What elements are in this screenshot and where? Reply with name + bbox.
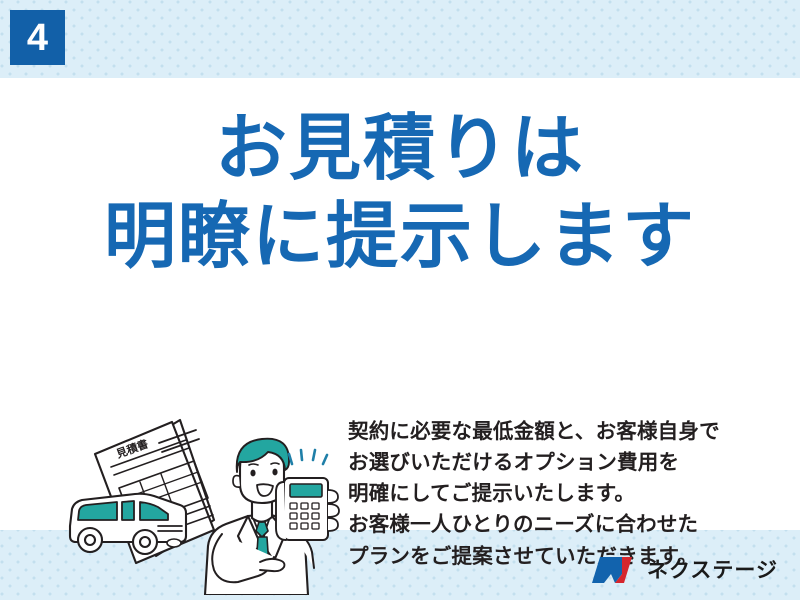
promo-slide: 4 お見積りは 明瞭に提示します 契約に必要な最低金額と、お客様自身で お選びい… (0, 0, 800, 600)
body-copy-line-2: お選びいただけるオプション費用を (348, 447, 748, 478)
headline-line-1: お見積りは (0, 106, 800, 194)
body-copy-line-1: 契約に必要な最低金額と、お客様自身で (348, 416, 748, 447)
body-copy-line-3: 明確にしてご提示いたします。 (348, 478, 748, 509)
step-number-label: 4 (27, 19, 48, 57)
headline: お見積りは 明瞭に提示します (0, 106, 800, 282)
body-copy-line-4: お客様一人ひとりのニーズに合わせた (348, 509, 748, 540)
step-number-badge: 4 (10, 10, 65, 65)
content-panel: お見積りは 明瞭に提示します 契約に必要な最低金額と、お客様自身で お選びいただ… (0, 78, 800, 530)
body-copy: 契約に必要な最低金額と、お客様自身で お選びいただけるオプション費用を 明確にし… (348, 416, 748, 572)
headline-line-2: 明瞭に提示します (0, 194, 800, 282)
illustration: 見積書 (62, 410, 347, 595)
nextage-n-mark-icon (591, 556, 638, 584)
sparkle-icon (289, 450, 327, 464)
brand-name: ネクステージ (647, 560, 778, 581)
calculator (276, 478, 339, 540)
brand-logo: ネクステージ (591, 556, 778, 584)
van (70, 494, 186, 554)
